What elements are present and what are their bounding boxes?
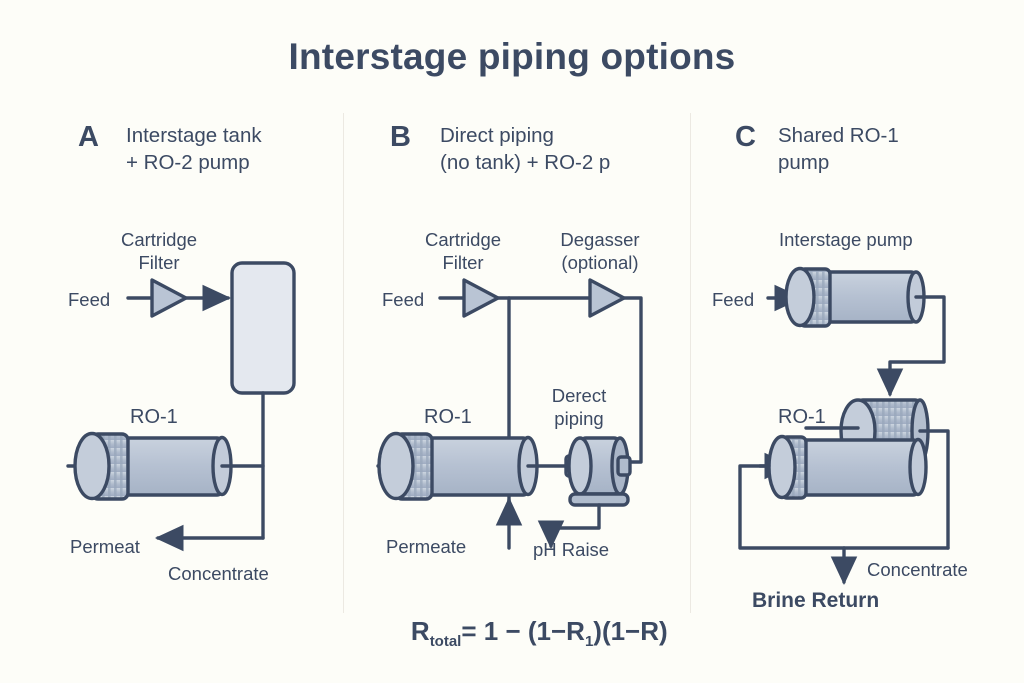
- panel-a-interstage-tank: [232, 263, 294, 393]
- panel-a-cartridge-filter-icon: [152, 280, 186, 316]
- panel-b-cartridge-filter-icon: [464, 280, 498, 316]
- panel-b-ro1-vessel: [379, 434, 537, 500]
- diagram-canvas: Interstage piping options A Interstage t…: [0, 0, 1024, 683]
- panel-b-degasser-icon: [590, 280, 624, 316]
- panel-b-ph-raise-line: [551, 505, 599, 546]
- panel-a-ro1-vessel: [75, 434, 231, 500]
- schematic-vectors: [0, 0, 1024, 683]
- panel-c-interstage-pump-vessel: [786, 269, 924, 327]
- panel-b-interstage-pump-icon: [566, 438, 630, 505]
- panel-c-ro1-vessel: [769, 437, 926, 499]
